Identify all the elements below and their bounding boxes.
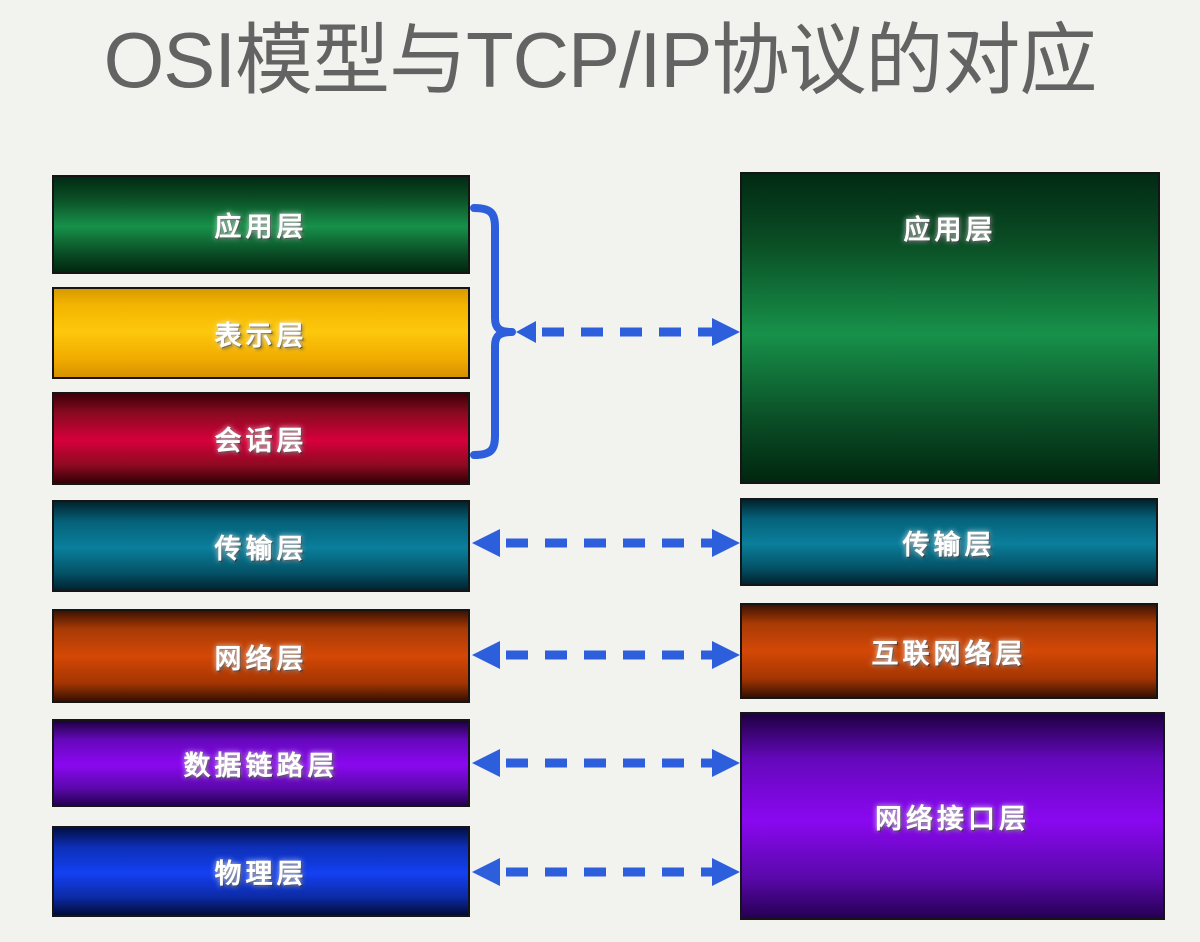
osi-layer-physical[interactable]: 物理层 xyxy=(52,826,470,917)
osi-layer-application[interactable]: 应用层 xyxy=(52,175,470,274)
grouping-brace xyxy=(474,208,512,455)
osi-layer-session[interactable]: 会话层 xyxy=(52,392,470,485)
layer-label: 应用层 xyxy=(904,208,997,247)
arrow-network xyxy=(472,641,740,669)
osi-layer-transport[interactable]: 传输层 xyxy=(52,500,470,592)
osi-layer-presentation[interactable]: 表示层 xyxy=(52,287,470,379)
tcpip-layer-network-interface[interactable]: 网络接口层 xyxy=(740,712,1165,920)
arrow-application xyxy=(516,318,740,346)
layer-label: 会话层 xyxy=(215,419,308,458)
layer-label: 网络层 xyxy=(215,637,308,676)
layer-label: 互联网络层 xyxy=(872,632,1027,671)
tcpip-layer-application[interactable]: 应用层 xyxy=(740,172,1160,484)
osi-layer-network[interactable]: 网络层 xyxy=(52,609,470,703)
page-title: OSI模型与TCP/IP协议的对应 xyxy=(0,12,1200,108)
layer-label: 应用层 xyxy=(215,205,308,244)
tcpip-layer-internet[interactable]: 互联网络层 xyxy=(740,603,1158,699)
layer-label: 表示层 xyxy=(215,314,308,353)
layer-label: 网络接口层 xyxy=(875,797,1030,836)
arrow-physical xyxy=(472,858,740,886)
layer-label: 数据链路层 xyxy=(184,744,339,783)
layer-label: 传输层 xyxy=(215,527,308,566)
tcpip-layer-transport[interactable]: 传输层 xyxy=(740,498,1158,586)
osi-layer-datalink[interactable]: 数据链路层 xyxy=(52,719,470,807)
layer-label: 传输层 xyxy=(903,523,996,562)
diagram-canvas: OSI模型与TCP/IP协议的对应 应用层 表示层 会话层 传输层 网络层 数据… xyxy=(0,0,1200,942)
arrow-transport xyxy=(472,529,740,557)
layer-label: 物理层 xyxy=(215,852,308,891)
arrow-datalink xyxy=(472,749,740,777)
